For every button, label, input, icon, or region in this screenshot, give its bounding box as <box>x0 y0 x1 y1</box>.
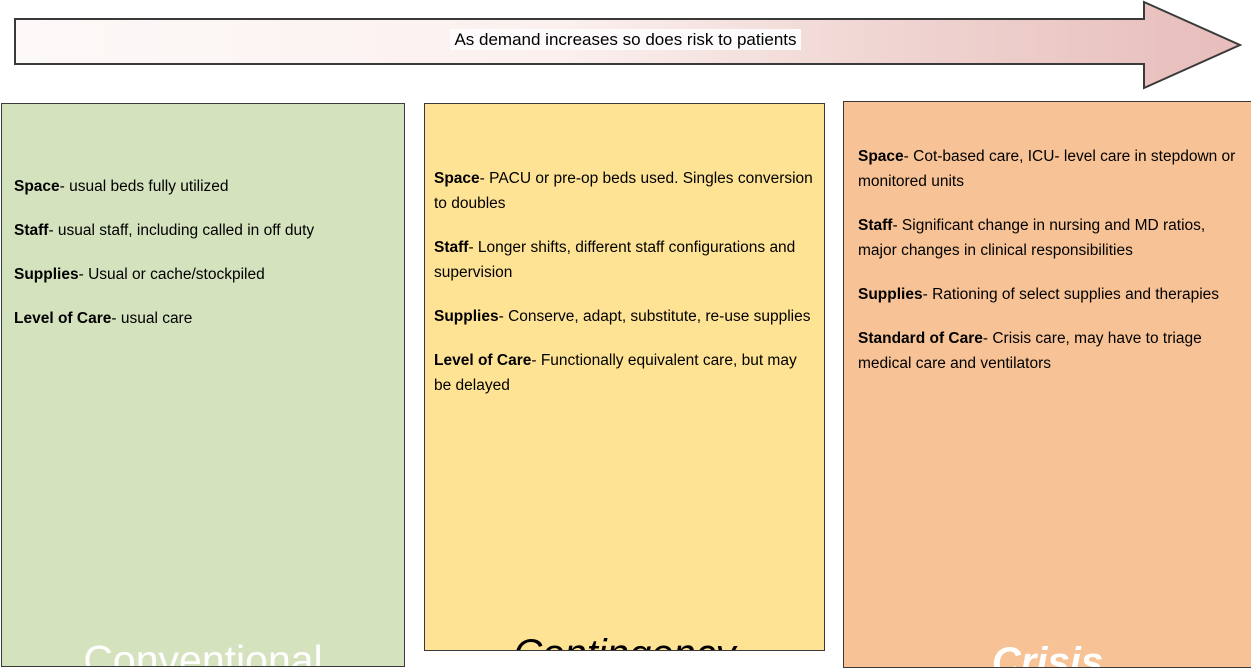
panel-conventional-body: Space- usual beds fully utilized Staff- … <box>14 174 390 331</box>
item-text: - Significant change in nursing and MD r… <box>858 217 1205 259</box>
item-label: Supplies <box>858 286 923 303</box>
item-text: - Rationing of select supplies and thera… <box>923 286 1219 303</box>
panel-title-conventional: Conventional <box>2 637 404 667</box>
demand-risk-arrow-banner: As demand increases so does risk to pati… <box>0 0 1251 92</box>
panel-conventional: Space- usual beds fully utilized Staff- … <box>1 103 405 667</box>
item-text: - usual staff, including called in off d… <box>48 222 314 239</box>
banner-label-wrapper: As demand increases so does risk to pati… <box>0 29 1251 51</box>
list-item: Level of Care- Functionally equivalent c… <box>434 348 814 398</box>
item-label: Staff <box>858 217 892 234</box>
list-item: Supplies- Usual or cache/stockpiled <box>14 262 390 287</box>
item-label: Staff <box>14 222 48 239</box>
item-text: - Cot-based care, ICU- level care in ste… <box>858 148 1235 190</box>
panel-title-crisis: Crisis <box>844 640 1251 668</box>
item-label: Level of Care <box>14 310 111 327</box>
panel-crisis-body: Space- Cot-based care, ICU- level care i… <box>858 144 1239 376</box>
list-item: Space- usual beds fully utilized <box>14 174 390 199</box>
item-label: Space <box>434 170 480 187</box>
list-item: Supplies- Rationing of select supplies a… <box>858 282 1239 307</box>
item-label: Supplies <box>14 266 79 283</box>
list-item: Space- PACU or pre-op beds used. Singles… <box>434 166 814 216</box>
panel-contingency-body: Space- PACU or pre-op beds used. Singles… <box>434 166 814 398</box>
item-label: Space <box>14 178 60 195</box>
item-label: Space <box>858 148 904 165</box>
list-item: Space- Cot-based care, ICU- level care i… <box>858 144 1239 194</box>
banner-text: As demand increases so does risk to pati… <box>450 29 800 50</box>
panel-contingency: Space- PACU or pre-op beds used. Singles… <box>424 103 825 651</box>
list-item: Staff- Longer shifts, different staff co… <box>434 235 814 285</box>
item-label: Staff <box>434 239 468 256</box>
list-item: Staff- Significant change in nursing and… <box>858 213 1239 263</box>
item-label: Level of Care <box>434 352 531 369</box>
item-text: - PACU or pre-op beds used. Singles conv… <box>434 170 813 212</box>
item-label: Supplies <box>434 308 499 325</box>
item-text: - Conserve, adapt, substitute, re-use su… <box>499 308 811 325</box>
list-item: Staff- usual staff, including called in … <box>14 218 390 243</box>
list-item: Level of Care- usual care <box>14 306 390 331</box>
item-text: - Longer shifts, different staff configu… <box>434 239 795 281</box>
list-item: Standard of Care- Crisis care, may have … <box>858 326 1239 376</box>
panel-title-contingency: Contingency <box>425 632 824 651</box>
item-text: - Usual or cache/stockpiled <box>79 266 265 283</box>
item-text: - usual beds fully utilized <box>60 178 229 195</box>
item-text: - usual care <box>111 310 192 327</box>
panel-crisis: Space- Cot-based care, ICU- level care i… <box>843 101 1251 668</box>
item-label: Standard of Care <box>858 330 983 347</box>
list-item: Supplies- Conserve, adapt, substitute, r… <box>434 304 814 329</box>
